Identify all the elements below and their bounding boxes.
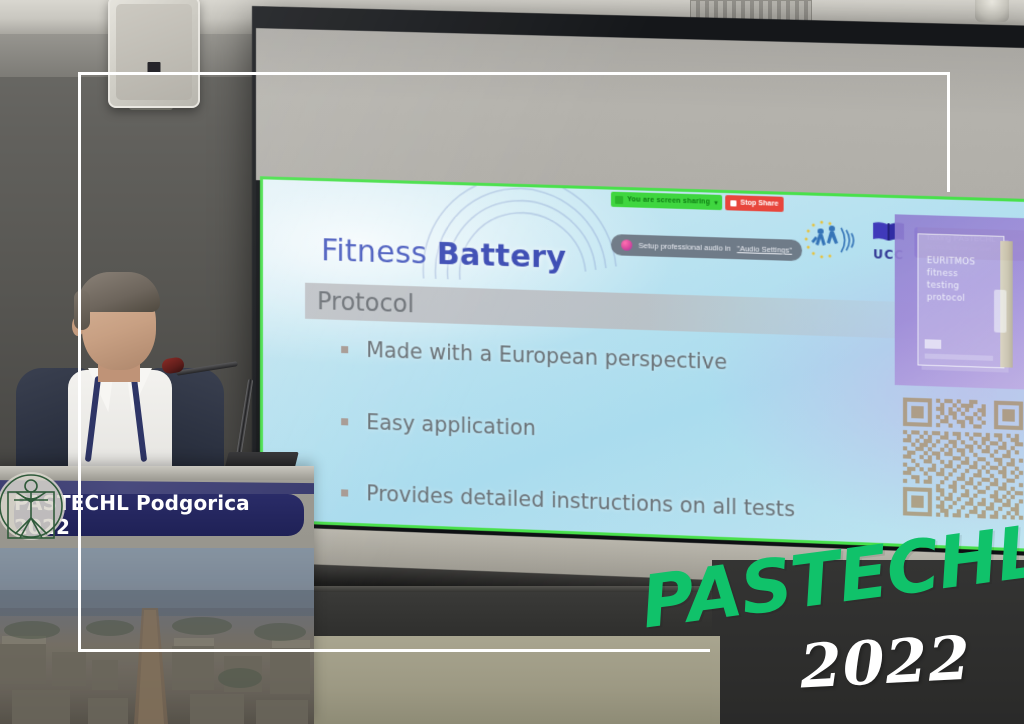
book-cover-title: EURITMOS fitness testing protocol [927,255,976,305]
share-screen-icon [615,195,623,203]
book-title-line4: protocol [927,292,976,306]
overlay-frame-right [947,72,950,192]
vitruvian-man-logo-icon [0,462,70,548]
bullet-text: Provides detailed instructions on all te… [366,481,795,523]
ceiling-light-icon [975,0,1009,22]
slide-section-label: Protocol [317,287,414,318]
podgorica-aerial-view [0,548,314,724]
book-tab-icon [994,290,1006,333]
euritmos-protocol-book: EURITMOS fitness testing protocol [917,233,1004,368]
screenshot-root: Fitness Battery Protocol Made with a Eur… [0,0,1024,724]
speaker-grille [116,4,192,100]
stop-share-label: Stop Share [740,200,778,208]
zoom-sharing-banner-label: You are screen sharing [627,196,710,206]
eu-erasmus-sport-logo-icon [800,219,856,261]
chevron-down-icon[interactable]: ▾ [714,198,718,206]
list-item: Made with a European perspective [341,337,820,379]
podium-cityscape-photo [0,548,314,724]
slide-bullet-list: Made with a European perspective Easy ap… [341,337,820,552]
presenter [10,272,240,482]
bullet-dot-icon [341,418,348,425]
slide-title: Fitness Battery [321,233,566,276]
projection-screen-blank-top [256,28,1024,203]
bullet-text: Made with a European perspective [366,338,727,376]
list-item: Provides detailed instructions on all te… [341,481,820,525]
slide-logo-row: UCC [800,218,909,264]
screen-share-region: Fitness Battery Protocol Made with a Eur… [260,176,1024,552]
overlay-frame-top [78,72,950,75]
presenter-hair [78,272,160,312]
bullet-text: Easy application [366,410,536,442]
bullet-dot-icon [341,490,348,497]
bullet-dot-icon [341,346,348,353]
overlay-brand-year: 2022 [798,624,972,703]
stop-square-icon [730,200,736,206]
slide-title-part1: Fitness [321,233,437,272]
qr-code-icon[interactable] [903,397,1023,519]
slide-title-part2: Battery [437,237,566,276]
list-item: Easy application [341,409,820,452]
book-footer-strip [925,353,993,360]
presentation-slide: Fitness Battery Protocol Made with a Eur… [263,179,1024,549]
stop-share-button[interactable]: Stop Share [725,195,783,212]
zoom-audio-toast-text: Setup professional audio in [638,241,730,253]
music-note-icon [621,239,632,250]
presenter-sideburn [74,290,90,330]
book-logo-icon [925,339,942,349]
overlay-frame-bottom [78,649,710,652]
audio-settings-link[interactable]: "Audio Settings" [737,244,792,255]
wall-speaker [108,0,200,108]
slide-book-panel: EURITMOS fitness testing protocol [895,214,1024,389]
overlay-frame-left [78,72,81,652]
